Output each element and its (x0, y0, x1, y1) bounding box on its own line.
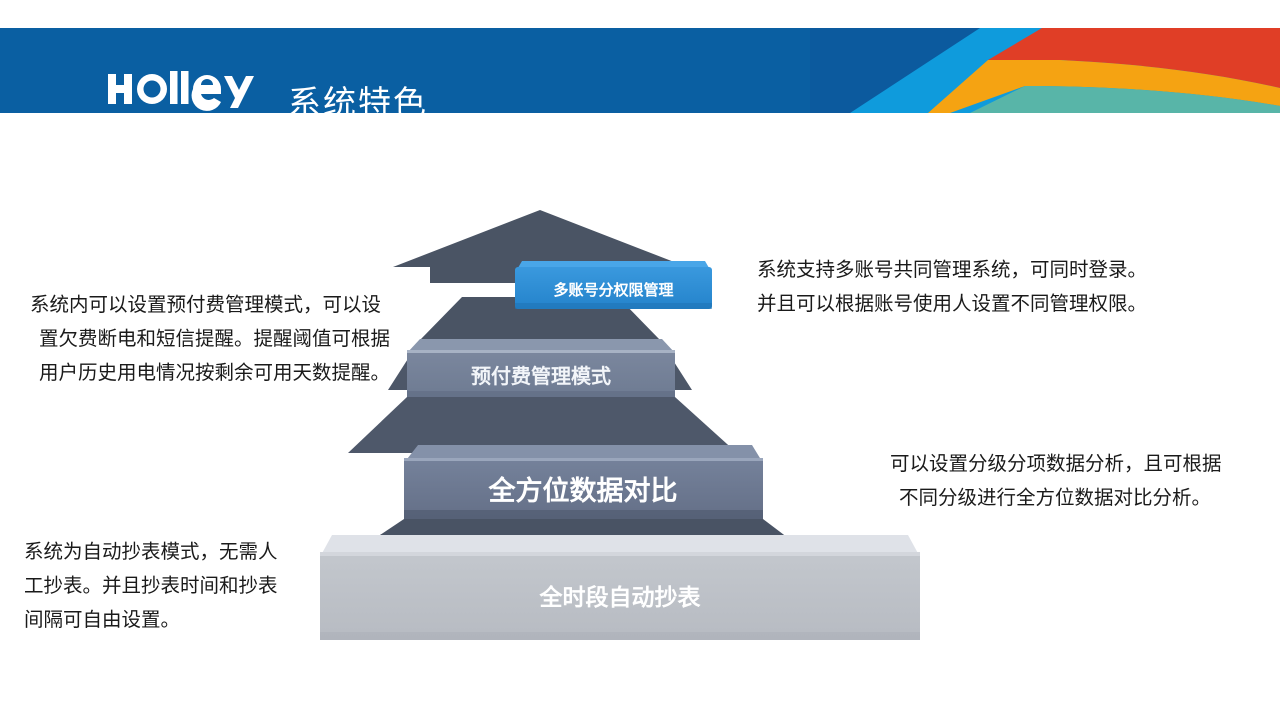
pyramid-level-3[interactable]: 全方位数据对比 (404, 445, 763, 520)
note-prepay-line-3: 用户历史用电情况按剩余可用天数提醒。 (30, 356, 390, 390)
note-autoread-line-3: 间隔可自由设置。 (24, 603, 278, 637)
page-title: 系统特色 (288, 76, 428, 113)
level-1-label: 多账号分权限管理 (553, 281, 673, 299)
level-3-highlight (404, 458, 763, 461)
level-2-bottom-edge (407, 391, 675, 398)
level-3-label: 全方位数据对比 (488, 475, 678, 507)
level-4-highlight (320, 552, 920, 556)
level-2-highlight (407, 350, 675, 353)
slide-canvas: TECH 华立科技 系统特色 (0, 0, 1280, 720)
level-1-bottom-edge (515, 303, 712, 309)
pyramid-level-2[interactable]: 预付费管理模式 (407, 339, 675, 398)
note-prepay-line-1: 系统内可以设置预付费管理模式，可以设 (30, 288, 390, 322)
pyramid-level-4[interactable]: 全时段自动抄表 (320, 535, 920, 640)
decorative-swoosh-graphic (810, 28, 1280, 113)
logo-cn-text: 华立科技 (170, 112, 225, 113)
logo-subline: TECH 华立科技 (108, 112, 260, 113)
logo-wordmark (108, 71, 254, 111)
note-multiaccount-line-2: 并且可以根据账号使用人设置不同管理权限。 (757, 287, 1147, 321)
note-multiaccount-line-1: 系统支持多账号共同管理系统，可同时登录。 (757, 253, 1147, 287)
level-4-bottom-edge (320, 632, 920, 640)
note-autoread-line-1: 系统为自动抄表模式，无需人 (24, 535, 278, 569)
pyramid-level-1[interactable]: 多账号分权限管理 (515, 261, 712, 309)
header-band: TECH 华立科技 系统特色 (0, 28, 1280, 113)
note-autoread-line-2: 工抄表。并且抄表时间和抄表 (24, 569, 278, 603)
note-dataanalysis-line-2: 不同分级进行全方位数据对比分析。 (890, 481, 1222, 515)
note-multi-account: 系统支持多账号共同管理系统，可同时登录。 并且可以根据账号使用人设置不同管理权限… (757, 253, 1147, 321)
level-3-bottom-edge (404, 510, 763, 520)
holley-tech-logo: TECH 华立科技 (108, 70, 260, 113)
pyramid-slope-2 (348, 397, 737, 453)
note-auto-meter-reading: 系统为自动抄表模式，无需人 工抄表。并且抄表时间和抄表 间隔可自由设置。 (24, 535, 278, 637)
note-prepay-mode: 系统内可以设置预付费管理模式，可以设 置欠费断电和短信提醒。提醒阈值可根据 用户… (30, 288, 390, 390)
level-2-label: 预付费管理模式 (471, 364, 611, 388)
note-dataanalysis-line-1: 可以设置分级分项数据分析，且可根据 (890, 447, 1222, 481)
note-prepay-line-2: 置欠费断电和短信提醒。提醒阈值可根据 (30, 322, 390, 356)
note-data-analysis: 可以设置分级分项数据分析，且可根据 不同分级进行全方位数据对比分析。 (890, 447, 1222, 515)
level-4-label: 全时段自动抄表 (539, 584, 702, 611)
